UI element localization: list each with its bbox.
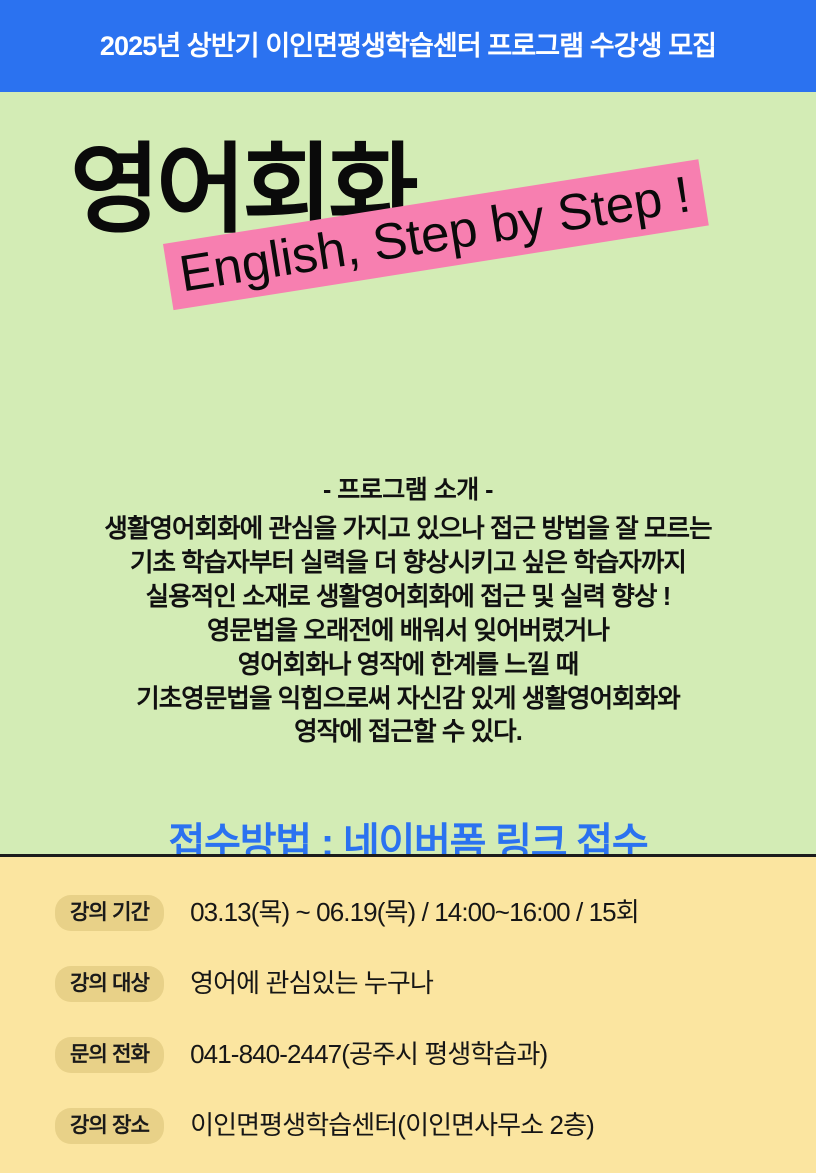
- info-value-audience: 영어에 관심있는 누구나: [190, 968, 433, 999]
- poster-header-bar: 2025년 상반기 이인면평생학습센터 프로그램 수강생 모집: [0, 0, 816, 92]
- application-section: 접수방법 : 네이버폼 링크 접수 ※ 8명 이상 모집 시 개강/ 정원 미달…: [0, 820, 816, 857]
- hero-title-area: 영어회화 English, Step by Step !: [0, 92, 816, 332]
- course-info-table: 강의 기간 03.13(목) ~ 06.19(목) / 14:00~16:00 …: [0, 857, 816, 1173]
- introduction-heading: - 프로그램 소개 -: [0, 474, 816, 507]
- info-value-phone: 041-840-2447(공주시 평생학습과): [190, 1039, 547, 1070]
- poster-main-body: 영어회화 English, Step by Step ! - 프로그램 소개 -…: [0, 92, 816, 857]
- introduction-line: 기초 학습자부터 실력을 더 향상시키고 싶은 학습자까지: [0, 547, 816, 581]
- info-label-audience: 강의 대상: [55, 966, 164, 1002]
- poster-header-title: 2025년 상반기 이인면평생학습센터 프로그램 수강생 모집: [100, 33, 716, 60]
- introduction-line: 생활영어회화에 관심을 가지고 있으나 접근 방법을 잘 모르는: [0, 513, 816, 547]
- program-poster: 2025년 상반기 이인면평생학습센터 프로그램 수강생 모집 영어회화 Eng…: [0, 0, 816, 1145]
- info-label-phone: 문의 전화: [55, 1037, 164, 1073]
- info-row-location: 강의 장소 이인면평생학습센터(이인면사무소 2층): [0, 1090, 816, 1161]
- info-row-audience: 강의 대상 영어에 관심있는 누구나: [0, 948, 816, 1019]
- info-row-period: 강의 기간 03.13(목) ~ 06.19(목) / 14:00~16:00 …: [0, 877, 816, 948]
- introduction-line: 영어회화나 영작에 한계를 느낄 때: [0, 649, 816, 683]
- introduction-line: 기초영문법을 익힘으로써 자신감 있게 생활영어회화와: [0, 683, 816, 717]
- info-row-phone: 문의 전화 041-840-2447(공주시 평생학습과): [0, 1019, 816, 1090]
- info-label-period: 강의 기간: [55, 895, 164, 931]
- info-label-location: 강의 장소: [55, 1108, 164, 1144]
- introduction-line: 실용적인 소재로 생활영어회화에 접근 및 실력 향상 !: [0, 581, 816, 615]
- introduction-line: 영문법을 오래전에 배워서 잊어버렸거나: [0, 615, 816, 649]
- introduction-line: 영작에 접근할 수 있다.: [0, 716, 816, 750]
- program-introduction: - 프로그램 소개 - 생활영어회화에 관심을 가지고 있으나 접근 방법을 잘…: [0, 474, 816, 750]
- application-method-text: 접수방법 : 네이버폼 링크 접수: [0, 820, 816, 857]
- info-value-location: 이인면평생학습센터(이인면사무소 2층): [190, 1110, 594, 1141]
- info-value-period: 03.13(목) ~ 06.19(목) / 14:00~16:00 / 15회: [190, 897, 639, 928]
